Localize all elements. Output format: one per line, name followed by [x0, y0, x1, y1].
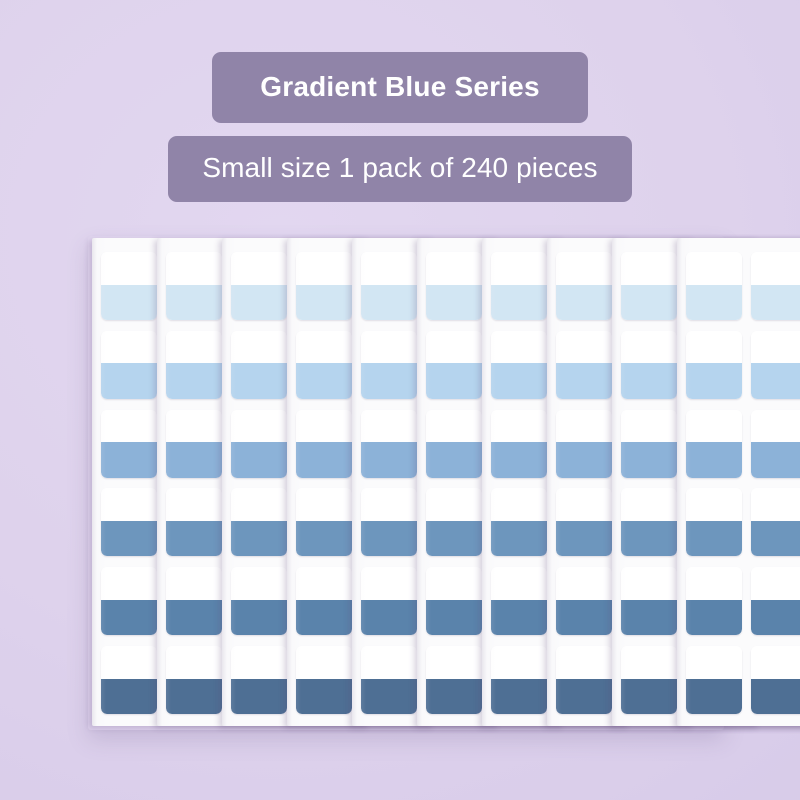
sticker-write-area — [361, 646, 417, 679]
sticker-shade-1-lightest-blue[interactable] — [686, 252, 742, 320]
sticker-shade-1-lightest-blue[interactable] — [491, 252, 547, 320]
sticker-color-band — [751, 679, 800, 714]
sticker-write-area — [621, 410, 677, 443]
sticker-write-area — [231, 646, 287, 679]
sticker-write-area — [361, 331, 417, 364]
sticker-shade-5-deep-blue[interactable] — [751, 567, 800, 635]
sticker-color-band — [361, 442, 417, 477]
sticker-color-band — [621, 521, 677, 556]
product-image-canvas: { "background": { "color_top_left": "#de… — [0, 0, 800, 800]
sticker-color-band — [166, 600, 222, 635]
sticker-color-band — [751, 521, 800, 556]
sticker-write-area — [296, 488, 352, 521]
sticker-shade-3-medium-blue[interactable] — [751, 410, 800, 478]
sticker-write-area — [491, 331, 547, 364]
sticker-write-area — [296, 410, 352, 443]
sticker-row — [677, 252, 800, 320]
sticker-shade-5-deep-blue[interactable] — [101, 567, 157, 635]
sticker-write-area — [101, 252, 157, 285]
sticker-shade-3-medium-blue[interactable] — [426, 410, 482, 478]
sticker-shade-6-darkest-blue[interactable] — [556, 646, 612, 714]
sticker-color-band — [296, 363, 352, 398]
banner-group: Gradient Blue Series Small size 1 pack o… — [0, 52, 800, 202]
sticker-write-area — [101, 331, 157, 364]
sticker-color-band — [426, 363, 482, 398]
sticker-write-area — [686, 331, 742, 364]
sheet-sticker-grid — [677, 238, 800, 726]
sticker-shade-6-darkest-blue[interactable] — [491, 646, 547, 714]
sticker-shade-4-steel-blue[interactable] — [491, 488, 547, 556]
sticker-shade-3-medium-blue[interactable] — [491, 410, 547, 478]
sticker-write-area — [101, 646, 157, 679]
sticker-write-area — [361, 252, 417, 285]
sticker-shade-4-steel-blue[interactable] — [101, 488, 157, 556]
sticker-shade-3-medium-blue[interactable] — [101, 410, 157, 478]
sticker-write-area — [556, 646, 612, 679]
sticker-write-area — [231, 252, 287, 285]
sticker-shade-1-lightest-blue[interactable] — [361, 252, 417, 320]
sticker-write-area — [101, 488, 157, 521]
sticker-color-band — [361, 285, 417, 320]
sticker-color-band — [751, 285, 800, 320]
sticker-shade-5-deep-blue[interactable] — [296, 567, 352, 635]
sticker-shade-5-deep-blue[interactable] — [361, 567, 417, 635]
sticker-color-band — [231, 521, 287, 556]
sticker-shade-4-steel-blue[interactable] — [751, 488, 800, 556]
sticker-write-area — [621, 252, 677, 285]
sticker-shade-1-lightest-blue[interactable] — [101, 252, 157, 320]
sticker-color-band — [231, 679, 287, 714]
sticker-color-band — [296, 285, 352, 320]
sticker-color-band — [166, 521, 222, 556]
sticker-color-band — [621, 679, 677, 714]
sticker-shade-2-light-blue[interactable] — [491, 331, 547, 399]
product-subtitle-banner: Small size 1 pack of 240 pieces — [168, 136, 631, 202]
sticker-write-area — [166, 567, 222, 600]
sticker-write-area — [426, 410, 482, 443]
sticker-color-band — [491, 363, 547, 398]
sticker-write-area — [231, 488, 287, 521]
sticker-shade-4-steel-blue[interactable] — [426, 488, 482, 556]
sticker-shade-4-steel-blue[interactable] — [361, 488, 417, 556]
sticker-write-area — [361, 567, 417, 600]
sticker-shade-3-medium-blue[interactable] — [621, 410, 677, 478]
sticker-shade-3-medium-blue[interactable] — [166, 410, 222, 478]
sticker-color-band — [361, 600, 417, 635]
sticker-write-area — [166, 410, 222, 443]
sticker-shade-2-light-blue[interactable] — [426, 331, 482, 399]
sticker-write-area — [751, 331, 800, 364]
sticker-shade-3-medium-blue[interactable] — [361, 410, 417, 478]
sticker-write-area — [491, 252, 547, 285]
sticker-shade-2-light-blue[interactable] — [296, 331, 352, 399]
sticker-color-band — [361, 679, 417, 714]
sticker-shade-2-light-blue[interactable] — [686, 331, 742, 399]
sticker-write-area — [751, 252, 800, 285]
sticker-shade-1-lightest-blue[interactable] — [166, 252, 222, 320]
sticker-shade-3-medium-blue[interactable] — [556, 410, 612, 478]
sticker-color-band — [101, 679, 157, 714]
sticker-color-band — [556, 679, 612, 714]
sticker-shade-2-light-blue[interactable] — [101, 331, 157, 399]
sticker-color-band — [556, 285, 612, 320]
sticker-shade-2-light-blue[interactable] — [556, 331, 612, 399]
sticker-shade-1-lightest-blue[interactable] — [556, 252, 612, 320]
sticker-color-band — [296, 521, 352, 556]
sticker-shade-1-lightest-blue[interactable] — [426, 252, 482, 320]
sticker-color-band — [166, 679, 222, 714]
sticker-shade-3-medium-blue[interactable] — [296, 410, 352, 478]
sticker-color-band — [166, 363, 222, 398]
sticker-write-area — [686, 646, 742, 679]
sticker-color-band — [686, 521, 742, 556]
sticker-shade-6-darkest-blue[interactable] — [621, 646, 677, 714]
sticker-shade-4-steel-blue[interactable] — [556, 488, 612, 556]
sticker-color-band — [556, 600, 612, 635]
sticker-color-band — [101, 600, 157, 635]
sticker-shade-1-lightest-blue[interactable] — [621, 252, 677, 320]
sticker-write-area — [621, 567, 677, 600]
sticker-shade-3-medium-blue[interactable] — [686, 410, 742, 478]
sticker-write-area — [621, 646, 677, 679]
sticker-color-band — [686, 679, 742, 714]
sticker-write-area — [556, 567, 612, 600]
sticker-shade-1-lightest-blue[interactable] — [231, 252, 287, 320]
sticker-write-area — [166, 488, 222, 521]
sticker-write-area — [491, 646, 547, 679]
sticker-shade-5-deep-blue[interactable] — [621, 567, 677, 635]
sticker-shade-4-steel-blue[interactable] — [231, 488, 287, 556]
sticker-write-area — [101, 410, 157, 443]
sticker-write-area — [491, 567, 547, 600]
sticker-write-area — [751, 567, 800, 600]
sticker-shade-5-deep-blue[interactable] — [491, 567, 547, 635]
sticker-write-area — [686, 488, 742, 521]
sticker-write-area — [296, 567, 352, 600]
sticker-write-area — [296, 331, 352, 364]
sticker-shade-6-darkest-blue[interactable] — [166, 646, 222, 714]
sticker-write-area — [686, 252, 742, 285]
sticker-write-area — [686, 410, 742, 443]
sticker-write-area — [166, 331, 222, 364]
sticker-shade-6-darkest-blue[interactable] — [101, 646, 157, 714]
sticker-color-band — [751, 600, 800, 635]
sticker-color-band — [621, 285, 677, 320]
sticker-shade-6-darkest-blue[interactable] — [686, 646, 742, 714]
sticker-write-area — [426, 331, 482, 364]
sticker-write-area — [296, 252, 352, 285]
sticker-color-band — [101, 285, 157, 320]
sticker-color-band — [101, 521, 157, 556]
sticker-shade-5-deep-blue[interactable] — [686, 567, 742, 635]
sticker-write-area — [166, 252, 222, 285]
sticker-color-band — [621, 600, 677, 635]
sticker-color-band — [426, 521, 482, 556]
sticker-color-band — [491, 679, 547, 714]
sticker-shade-4-steel-blue[interactable] — [621, 488, 677, 556]
sticker-color-band — [166, 285, 222, 320]
sticker-color-band — [426, 600, 482, 635]
sticker-write-area — [491, 488, 547, 521]
sticker-write-area — [751, 410, 800, 443]
sticker-color-band — [361, 521, 417, 556]
sticker-row — [677, 646, 800, 714]
sticker-write-area — [556, 252, 612, 285]
sticker-color-band — [556, 363, 612, 398]
sticker-shade-5-deep-blue[interactable] — [166, 567, 222, 635]
sticker-write-area — [426, 646, 482, 679]
sticker-color-band — [491, 600, 547, 635]
sticker-write-area — [556, 488, 612, 521]
sticker-color-band — [361, 363, 417, 398]
sticker-color-band — [686, 363, 742, 398]
sticker-color-band — [621, 442, 677, 477]
sticker-write-area — [621, 331, 677, 364]
sticker-write-area — [231, 567, 287, 600]
sticker-shade-6-darkest-blue[interactable] — [296, 646, 352, 714]
sticker-shade-4-steel-blue[interactable] — [166, 488, 222, 556]
sticker-color-band — [426, 442, 482, 477]
sticker-shade-4-steel-blue[interactable] — [296, 488, 352, 556]
sticker-write-area — [166, 646, 222, 679]
sticker-write-area — [751, 488, 800, 521]
sticker-color-band — [686, 285, 742, 320]
sticker-write-area — [491, 410, 547, 443]
sticker-write-area — [426, 488, 482, 521]
sticker-color-band — [751, 363, 800, 398]
sticker-shade-4-steel-blue[interactable] — [686, 488, 742, 556]
sticker-write-area — [556, 410, 612, 443]
sticker-shade-5-deep-blue[interactable] — [231, 567, 287, 635]
sticker-write-area — [361, 488, 417, 521]
sticker-color-band — [166, 442, 222, 477]
sticker-write-area — [296, 646, 352, 679]
sticker-shade-5-deep-blue[interactable] — [556, 567, 612, 635]
sticker-color-band — [426, 285, 482, 320]
sticker-sheet[interactable] — [677, 238, 800, 726]
sticker-row — [677, 410, 800, 478]
sticker-row — [677, 331, 800, 399]
sticker-color-band — [686, 442, 742, 477]
sticker-shade-6-darkest-blue[interactable] — [751, 646, 800, 714]
sticker-write-area — [686, 567, 742, 600]
sticker-write-area — [231, 410, 287, 443]
sticker-color-band — [621, 363, 677, 398]
sticker-color-band — [296, 442, 352, 477]
sticker-row — [677, 567, 800, 635]
sticker-color-band — [556, 521, 612, 556]
sticker-write-area — [556, 331, 612, 364]
sticker-shade-2-light-blue[interactable] — [621, 331, 677, 399]
sticker-color-band — [751, 442, 800, 477]
sticker-write-area — [426, 252, 482, 285]
sticker-shade-6-darkest-blue[interactable] — [361, 646, 417, 714]
sticker-shade-1-lightest-blue[interactable] — [751, 252, 800, 320]
sticker-shade-3-medium-blue[interactable] — [231, 410, 287, 478]
sticker-row — [677, 488, 800, 556]
product-title-banner: Gradient Blue Series — [212, 52, 587, 123]
sticker-color-band — [491, 521, 547, 556]
sticker-write-area — [426, 567, 482, 600]
sticker-color-band — [556, 442, 612, 477]
sticker-color-band — [231, 600, 287, 635]
sticker-shade-2-light-blue[interactable] — [361, 331, 417, 399]
sticker-color-band — [426, 679, 482, 714]
sticker-sheet-stack — [92, 238, 718, 726]
sticker-shade-2-light-blue[interactable] — [751, 331, 800, 399]
sticker-color-band — [296, 679, 352, 714]
sticker-color-band — [296, 600, 352, 635]
sticker-shade-1-lightest-blue[interactable] — [296, 252, 352, 320]
sticker-color-band — [101, 363, 157, 398]
sticker-color-band — [686, 600, 742, 635]
sticker-color-band — [491, 442, 547, 477]
sticker-color-band — [231, 363, 287, 398]
sticker-shade-6-darkest-blue[interactable] — [426, 646, 482, 714]
sticker-shade-5-deep-blue[interactable] — [426, 567, 482, 635]
sticker-color-band — [231, 442, 287, 477]
sticker-write-area — [361, 410, 417, 443]
sticker-color-band — [231, 285, 287, 320]
sticker-write-area — [231, 331, 287, 364]
sticker-shade-2-light-blue[interactable] — [166, 331, 222, 399]
sticker-color-band — [491, 285, 547, 320]
sticker-shade-2-light-blue[interactable] — [231, 331, 287, 399]
sticker-write-area — [621, 488, 677, 521]
sticker-write-area — [101, 567, 157, 600]
sticker-color-band — [101, 442, 157, 477]
sticker-write-area — [751, 646, 800, 679]
sticker-shade-6-darkest-blue[interactable] — [231, 646, 287, 714]
